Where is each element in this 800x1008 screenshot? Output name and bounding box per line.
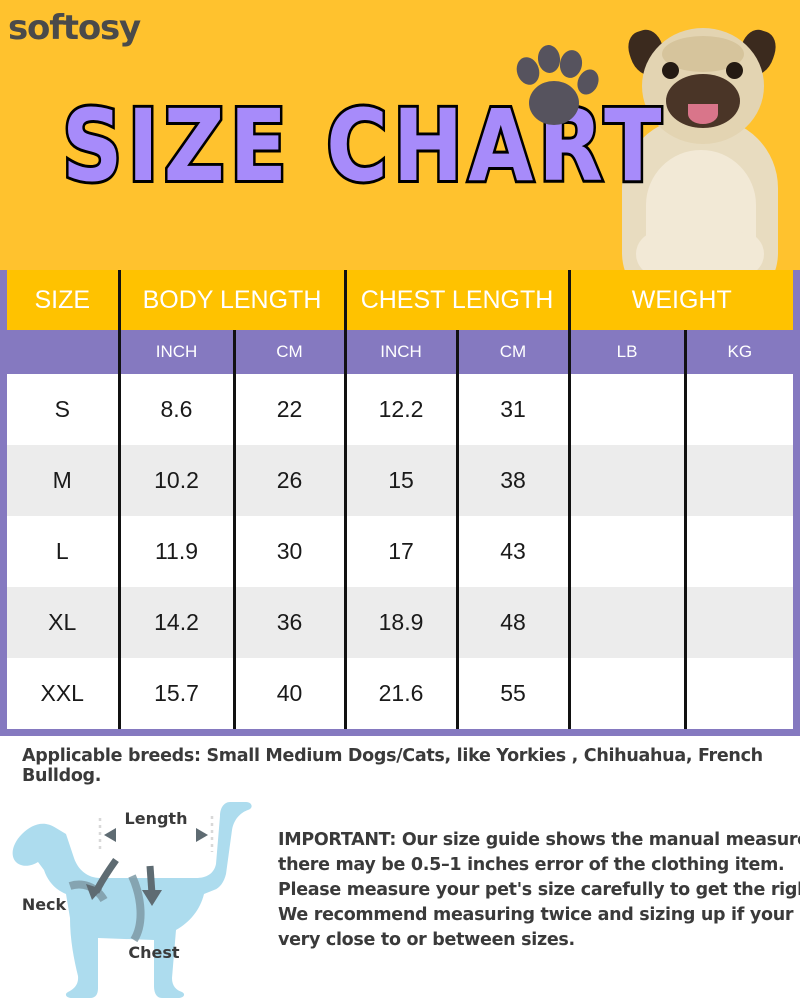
diagram-label-neck: Neck: [22, 895, 67, 914]
cell-chest-inch: 21.6: [345, 658, 457, 729]
size-table: SIZE BODY LENGTH CHEST LENGTH WEIGHT INC…: [7, 270, 793, 729]
table-group-header-row: SIZE BODY LENGTH CHEST LENGTH WEIGHT: [7, 270, 793, 330]
cell-weight-lb: [569, 587, 685, 658]
cell-size: XXL: [7, 658, 119, 729]
important-line-3: Please measure your pet's size carefully…: [278, 878, 794, 903]
table-unit-header-row: INCH CM INCH CM LB KG: [7, 330, 793, 374]
cell-size: S: [7, 374, 119, 445]
cell-size: XL: [7, 587, 119, 658]
brand-logo: softosy: [8, 8, 140, 48]
table-row: M 10.2 26 15 38: [7, 445, 793, 516]
unit-header-body-cm: CM: [234, 330, 345, 374]
cell-chest-cm: 43: [457, 516, 569, 587]
diagram-label-chest: Chest: [128, 943, 180, 962]
unit-header-chest-inch: INCH: [345, 330, 457, 374]
table-row: XXL 15.7 40 21.6 55: [7, 658, 793, 729]
cell-body-cm: 30: [234, 516, 345, 587]
paw-print-icon: [512, 45, 602, 141]
unit-header-body-inch: INCH: [119, 330, 234, 374]
cell-body-cm: 26: [234, 445, 345, 516]
table-row: L 11.9 30 17 43: [7, 516, 793, 587]
applicable-breeds-note: Applicable breeds: Small Medium Dogs/Cat…: [22, 746, 800, 786]
cell-weight-lb: [569, 445, 685, 516]
column-group-weight: WEIGHT: [569, 270, 793, 330]
measurement-guide-section: Length Neck Chest IMPORTANT: Our size gu…: [0, 786, 800, 1008]
cell-body-inch: 8.6: [119, 374, 234, 445]
column-group-body-length: BODY LENGTH: [119, 270, 345, 330]
cell-body-inch: 15.7: [119, 658, 234, 729]
size-table-container: SIZE BODY LENGTH CHEST LENGTH WEIGHT INC…: [0, 270, 800, 736]
unit-header-weight-lb: LB: [569, 330, 685, 374]
cell-body-cm: 36: [234, 587, 345, 658]
cell-chest-cm: 48: [457, 587, 569, 658]
header-banner: softosy SIZE CHART: [0, 0, 800, 270]
cell-chest-inch: 17: [345, 516, 457, 587]
dog-measurement-diagram-icon: Length Neck Chest: [4, 790, 266, 1006]
important-line-4: We recommend measuring twice and sizing …: [278, 903, 794, 928]
diagram-label-length: Length: [125, 809, 188, 828]
cell-weight-kg: [685, 587, 793, 658]
cell-weight-kg: [685, 516, 793, 587]
column-group-size: SIZE: [7, 270, 119, 330]
cell-chest-inch: 18.9: [345, 587, 457, 658]
cell-body-inch: 14.2: [119, 587, 234, 658]
cell-weight-lb: [569, 374, 685, 445]
unit-header-chest-cm: CM: [457, 330, 569, 374]
important-line-1: IMPORTANT: Our size guide shows the manu…: [278, 828, 794, 853]
cell-chest-cm: 55: [457, 658, 569, 729]
cell-chest-cm: 31: [457, 374, 569, 445]
cell-weight-lb: [569, 516, 685, 587]
cell-weight-kg: [685, 445, 793, 516]
cell-body-inch: 11.9: [119, 516, 234, 587]
cell-chest-cm: 38: [457, 445, 569, 516]
table-row: XL 14.2 36 18.9 48: [7, 587, 793, 658]
cell-size: M: [7, 445, 119, 516]
important-line-5: very close to or between sizes.: [278, 928, 794, 953]
cell-body-cm: 40: [234, 658, 345, 729]
cell-size: L: [7, 516, 119, 587]
column-group-chest-length: CHEST LENGTH: [345, 270, 569, 330]
cell-weight-kg: [685, 658, 793, 729]
unit-header-weight-kg: KG: [685, 330, 793, 374]
cell-weight-lb: [569, 658, 685, 729]
cell-weight-kg: [685, 374, 793, 445]
cell-chest-inch: 15: [345, 445, 457, 516]
cell-body-inch: 10.2: [119, 445, 234, 516]
size-chart-page: softosy SIZE CHART: [0, 0, 800, 1000]
important-line-2: there may be 0.5–1 inches error of the c…: [278, 853, 794, 878]
cell-chest-inch: 12.2: [345, 374, 457, 445]
important-note: IMPORTANT: Our size guide shows the manu…: [278, 828, 794, 953]
unit-header-size: [7, 330, 119, 374]
table-row: S 8.6 22 12.2 31: [7, 374, 793, 445]
cell-body-cm: 22: [234, 374, 345, 445]
